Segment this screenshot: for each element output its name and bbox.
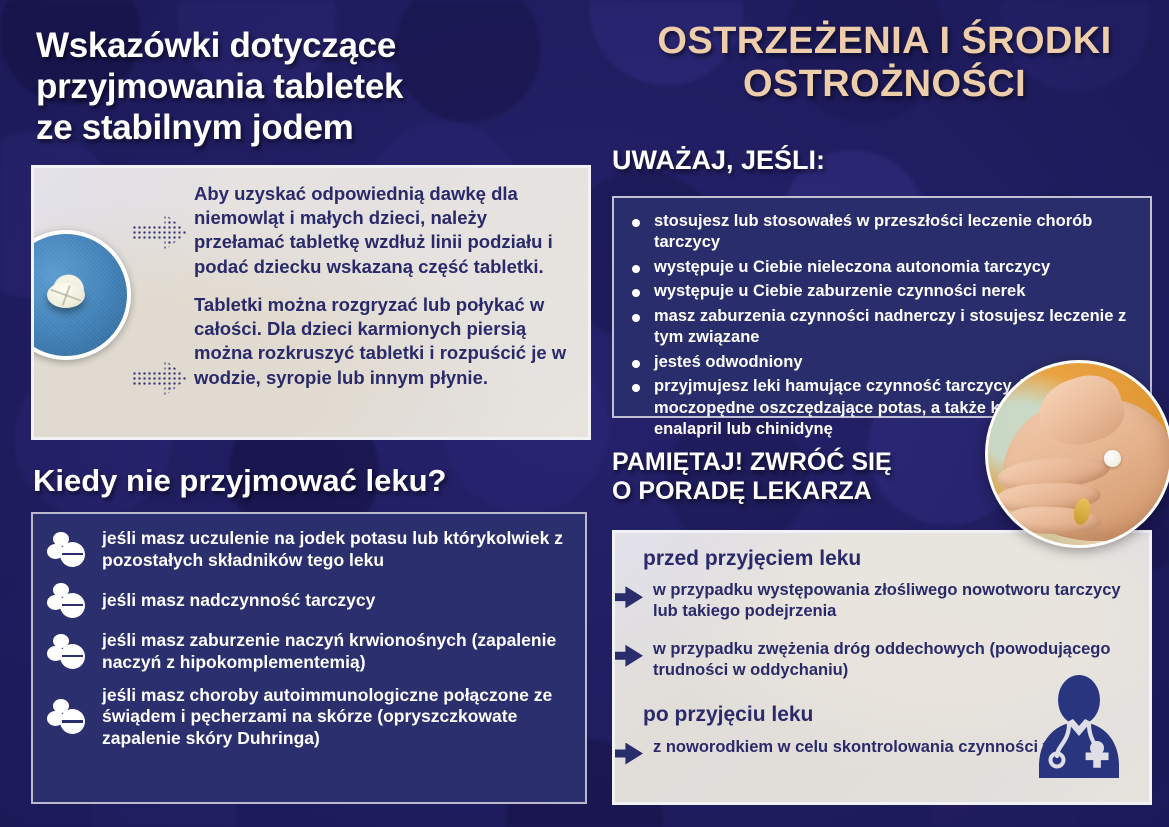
hand-with-tablet-photo [985,360,1169,548]
left-title-line-3: ze stabilnym jodem [36,108,576,149]
tablet-shape [47,282,85,308]
contraindication-text: jeśli masz choroby autoimmunologiczne po… [102,685,569,751]
right-title-line-2: OSTROŻNOŚCI [610,63,1159,106]
arrow-right-icon [612,586,643,608]
arrow-right-icon [612,645,643,667]
pills-icon [47,634,89,670]
tip-paragraph: Aby uzyskać odpowiednią dawkę dla niemow… [194,182,574,279]
doctor-icon [1027,674,1131,786]
warnings-heading: UWAŻAJ, JEŚLI: [612,145,1152,176]
right-page-title: OSTRZEŻENIA I ŚRODKI OSTROŻNOŚCI [610,20,1159,105]
left-page-title: Wskazówki dotyczące przyjmowania tablete… [36,26,576,149]
infographic-poster: Wskazówki dotyczące przyjmowania tablete… [0,0,1169,827]
bullet-dot-icon [632,360,640,368]
left-column: Wskazówki dotyczące przyjmowania tablete… [0,0,600,827]
contraindication-item: jeśli masz choroby autoimmunologiczne po… [47,685,569,751]
left-title-line-2: przyjmowania tabletek [36,67,576,108]
warning-text: występuje u Ciebie nieleczona autonomia … [654,257,1134,278]
advice-panel: przed przyjęciem leku w przypadku występ… [612,530,1152,805]
pills-icon [47,699,89,735]
contraindication-text: jeśli masz nadczynność tarczycy [102,590,569,612]
warning-item: występuje u Ciebie zaburzenie czynności … [632,281,1134,302]
tips-panel: Aby uzyskać odpowiednią dawkę dla niemow… [31,165,591,440]
contraindication-item: jeśli masz nadczynność tarczycy [47,583,569,619]
advice-heading-line-2: O PORADĘ LEKARZA [612,477,1032,506]
warning-text: masz zaburzenia czynności nadnerczy i st… [654,306,1134,349]
contraindications-panel: jeśli masz uczulenie na jodek potasu lub… [31,512,587,804]
tips-text-block: Aby uzyskać odpowiednią dawkę dla niemow… [194,182,574,390]
bullet-dot-icon [632,314,640,322]
advice-heading: PAMIĘTAJ! ZWRÓĆ SIĘ O PORADĘ LEKARZA [612,448,1032,506]
tip-paragraph: Tabletki można rozgryzać lub połykać w c… [194,293,574,390]
contraindication-item: jeśli masz uczulenie na jodek potasu lub… [47,528,569,572]
right-title-line-1: OSTRZEŻENIA I ŚRODKI [610,20,1159,63]
tablet-in-palm-shape [1104,450,1120,466]
arrow-right-icon [612,743,643,765]
left-title-line-1: Wskazówki dotyczące [36,26,576,67]
pills-icon [47,532,89,568]
pills-icon [47,583,89,619]
warning-item: masz zaburzenia czynności nadnerczy i st… [632,306,1134,349]
right-column: OSTRZEŻENIA I ŚRODKI OSTROŻNOŚCI UWAŻAJ,… [600,0,1169,827]
warning-text: stosujesz lub stosowałeś w przeszłości l… [654,211,1134,254]
contraindication-item: jeśli masz zaburzenie naczyń krwionośnyc… [47,630,569,674]
bullet-dot-icon [632,219,640,227]
contraindication-text: jeśli masz zaburzenie naczyń krwionośnyc… [102,630,569,674]
bullet-dot-icon [632,289,640,297]
contraindication-text: jeśli masz uczulenie na jodek potasu lub… [102,528,569,572]
bullet-dot-icon [632,384,640,392]
advice-heading-line-1: PAMIĘTAJ! ZWRÓĆ SIĘ [612,448,1032,477]
advice-item: w przypadku występowania złośliwego nowo… [615,580,1135,622]
warning-text: występuje u Ciebie zaburzenie czynności … [654,281,1134,302]
contraindications-heading: Kiedy nie przyjmować leku? [33,463,593,499]
bullet-dot-icon [632,265,640,273]
warning-item: występuje u Ciebie nieleczona autonomia … [632,257,1134,278]
advice-before-label: przed przyjęciem leku [643,546,1135,571]
warning-item: stosujesz lub stosowałeś w przeszłości l… [632,211,1134,254]
advice-item-text: w przypadku występowania złośliwego nowo… [653,580,1135,622]
